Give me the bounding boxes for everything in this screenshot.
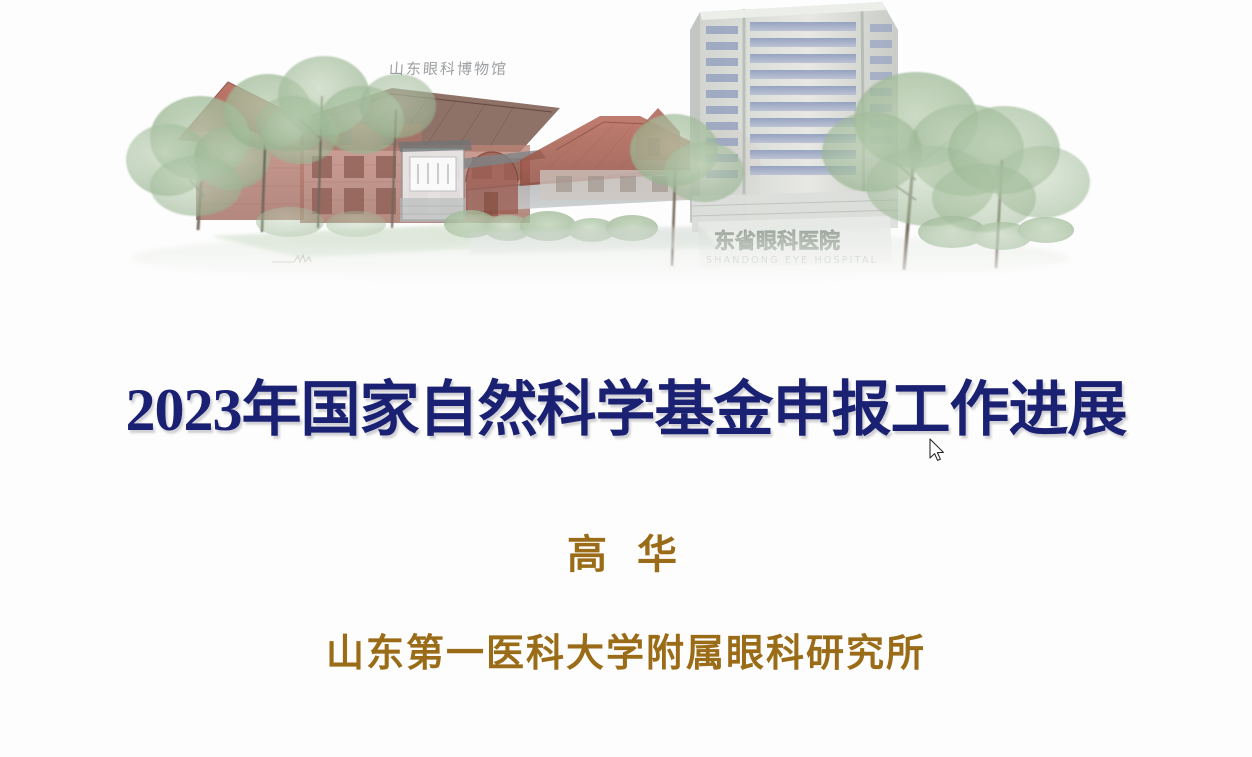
- hospital-sign-cn: 东省眼科医院: [714, 229, 840, 253]
- museum-caption: 山东眼科博物馆: [388, 58, 508, 79]
- tree-cluster-left: [126, 56, 436, 232]
- artist-signature: [272, 255, 311, 262]
- campus-illustration: 东省眼科医院 SHANDONG EYE HOSPITAL: [0, 0, 1252, 300]
- hospital-sign: 东省眼科医院 SHANDONG EYE HOSPITAL: [698, 216, 892, 268]
- ground-haze: [130, 232, 1070, 284]
- museum-building: [178, 82, 560, 223]
- lawn-wash: [210, 224, 720, 258]
- shrubs: [256, 207, 658, 242]
- hospital-sign-en: SHANDONG EYE HOSPITAL: [706, 255, 878, 266]
- gate-wall: [398, 140, 762, 222]
- affiliation-block: 山东第一医科大学附属眼科研究所: [0, 622, 1252, 677]
- affiliation-name: 山东第一医科大学附属眼科研究所: [326, 622, 926, 677]
- illustration-bottom-fade: [0, 230, 1252, 300]
- hedges-right: [918, 216, 1074, 250]
- presenter-block: 高 华: [0, 522, 1252, 580]
- title-block: 2023年国家自然科学基金申报工作进展: [0, 380, 1252, 440]
- illustration-right-fade: [1102, 0, 1252, 300]
- presentation-slide: 东省眼科医院 SHANDONG EYE HOSPITAL: [0, 0, 1252, 757]
- presenter-name: 高 华: [567, 522, 685, 580]
- campus-illustration-svg: 东省眼科医院 SHANDONG EYE HOSPITAL: [0, 0, 1252, 300]
- page-title: 2023年国家自然科学基金申报工作进展: [126, 380, 1127, 440]
- hospital-tower: [690, 2, 898, 232]
- villa-buildings: [520, 108, 760, 200]
- tree-cluster-right: [630, 72, 1090, 270]
- illustration-left-fade: [0, 0, 150, 300]
